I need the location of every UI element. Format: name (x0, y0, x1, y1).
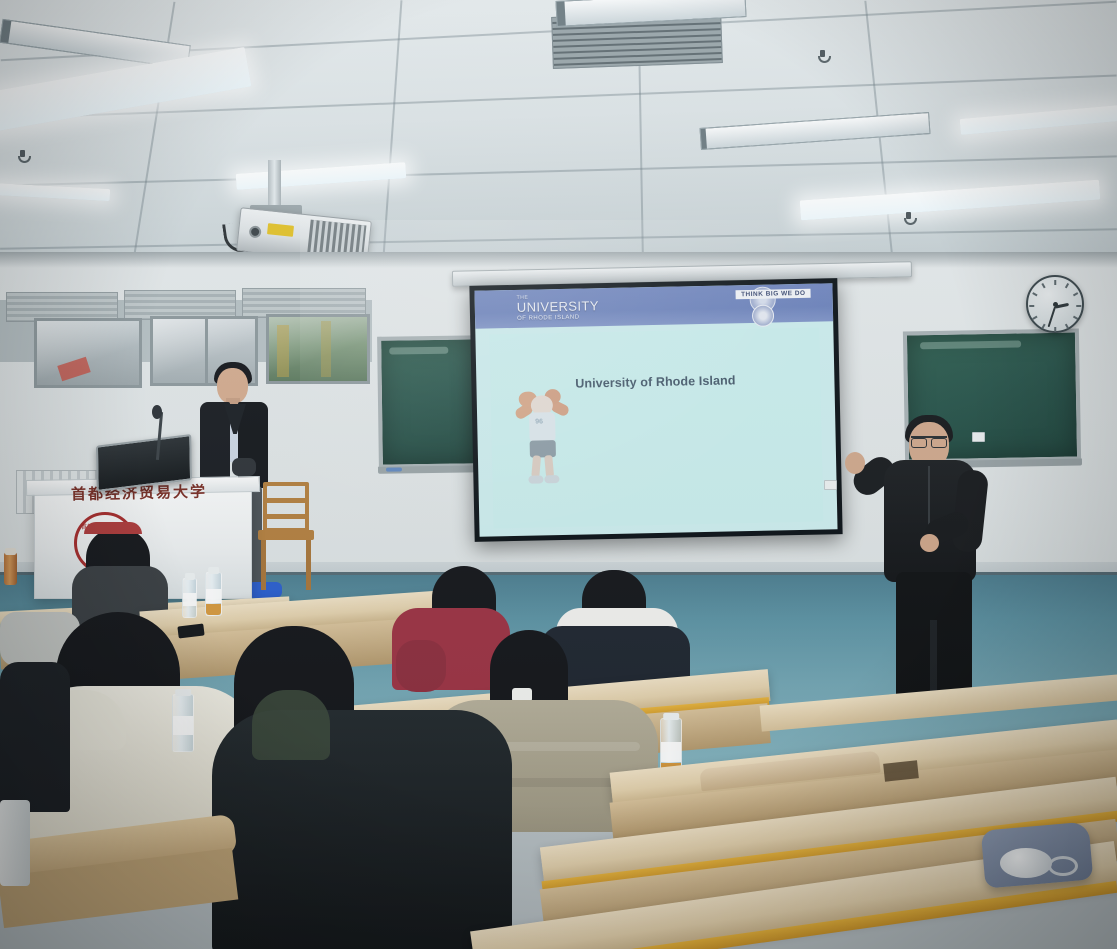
mascot-jersey-number: 96 (535, 418, 543, 425)
wooden-chair (258, 482, 314, 590)
wall-clock (1026, 275, 1084, 333)
ceiling-light (0, 183, 110, 201)
glasses-icon (911, 436, 947, 444)
uri-logo: THE UNIVERSITY OF RHODE ISLAND (517, 293, 600, 323)
microphone-icon (152, 405, 162, 419)
drink-bottle (172, 694, 194, 752)
bag-strap (1048, 856, 1078, 876)
presenter-hand (845, 452, 865, 474)
louvre-light (700, 112, 931, 150)
projection-screen[interactable]: THE UNIVERSITY OF RHODE ISLAND THINK BIG… (469, 278, 842, 542)
slide: THE UNIVERSITY OF RHODE ISLAND THINK BIG… (474, 283, 837, 536)
uri-logo-line3: OF RHODE ISLAND (517, 313, 599, 323)
drink-bottle (4, 552, 17, 585)
lecture-hall-photo: THE UNIVERSITY OF RHODE ISLAND THINK BIG… (0, 0, 1117, 949)
ceiling-light (960, 105, 1117, 135)
clock-minute-hand (1048, 307, 1056, 328)
sprinkler-icon (904, 212, 913, 227)
host-hands (232, 458, 256, 476)
chalkboard-left (377, 335, 485, 468)
wall-shadow (0, 252, 1117, 268)
drink-bottle (182, 578, 197, 618)
drink-bottle (205, 572, 222, 616)
university-seal-icon (752, 305, 774, 327)
ceiling-light (236, 162, 407, 190)
window (266, 314, 370, 384)
sprinkler-icon (18, 150, 27, 165)
helmet (1000, 848, 1052, 878)
window (34, 318, 142, 388)
chalk-tray (378, 465, 486, 474)
wall-outlet (972, 432, 985, 442)
slide-tagline: THINK BIG WE DO (736, 289, 811, 300)
projector-lens-icon (249, 225, 262, 238)
sprinkler-icon (818, 50, 827, 65)
trash-bin (0, 800, 30, 886)
presenter-hand (920, 534, 939, 552)
wall-outlet (824, 480, 837, 490)
host-jacket (200, 402, 230, 488)
ram-mascot-icon: 96 (510, 385, 574, 490)
ceiling-light (800, 180, 1101, 221)
projector-label (267, 223, 294, 237)
